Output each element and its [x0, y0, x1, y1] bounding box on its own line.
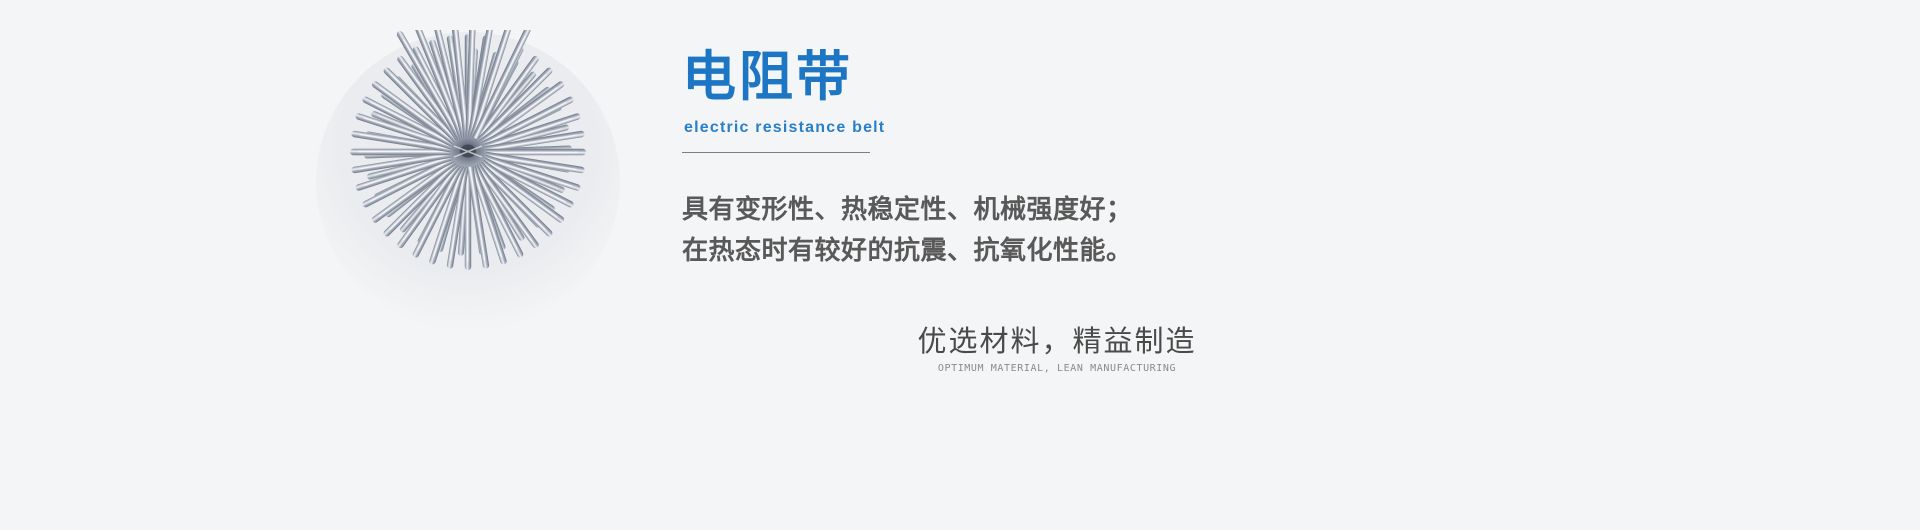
- banner-content: 电阻带 electric resistance belt 具有变形性、热稳定性、…: [682, 0, 1812, 530]
- burst-svg: [290, 30, 660, 370]
- title-divider: [682, 152, 870, 153]
- description-line-2: 在热态时有较好的抗震、抗氧化性能。: [682, 231, 1202, 272]
- tagline-en: OPTIMUM MATERIAL, LEAN MANUFACTURING: [777, 362, 1337, 376]
- tagline-block: 优选材料，精益制造 OPTIMUM MATERIAL, LEAN MANUFAC…: [777, 322, 1337, 376]
- resistance-belt-burst-graphic: [290, 30, 660, 370]
- burst-hub: [450, 137, 486, 167]
- description-line-1: 具有变形性、热稳定性、机械强度好；: [682, 190, 1202, 231]
- tagline-zh: 优选材料，精益制造: [777, 322, 1337, 360]
- description-block: 具有变形性、热稳定性、机械强度好； 在热态时有较好的抗震、抗氧化性能。: [682, 190, 1202, 272]
- page-subtitle: electric resistance belt: [684, 117, 885, 139]
- page-title: 电阻带: [682, 46, 853, 108]
- product-image: [290, 30, 660, 370]
- product-banner: 电阻带 electric resistance belt 具有变形性、热稳定性、…: [0, 0, 1920, 530]
